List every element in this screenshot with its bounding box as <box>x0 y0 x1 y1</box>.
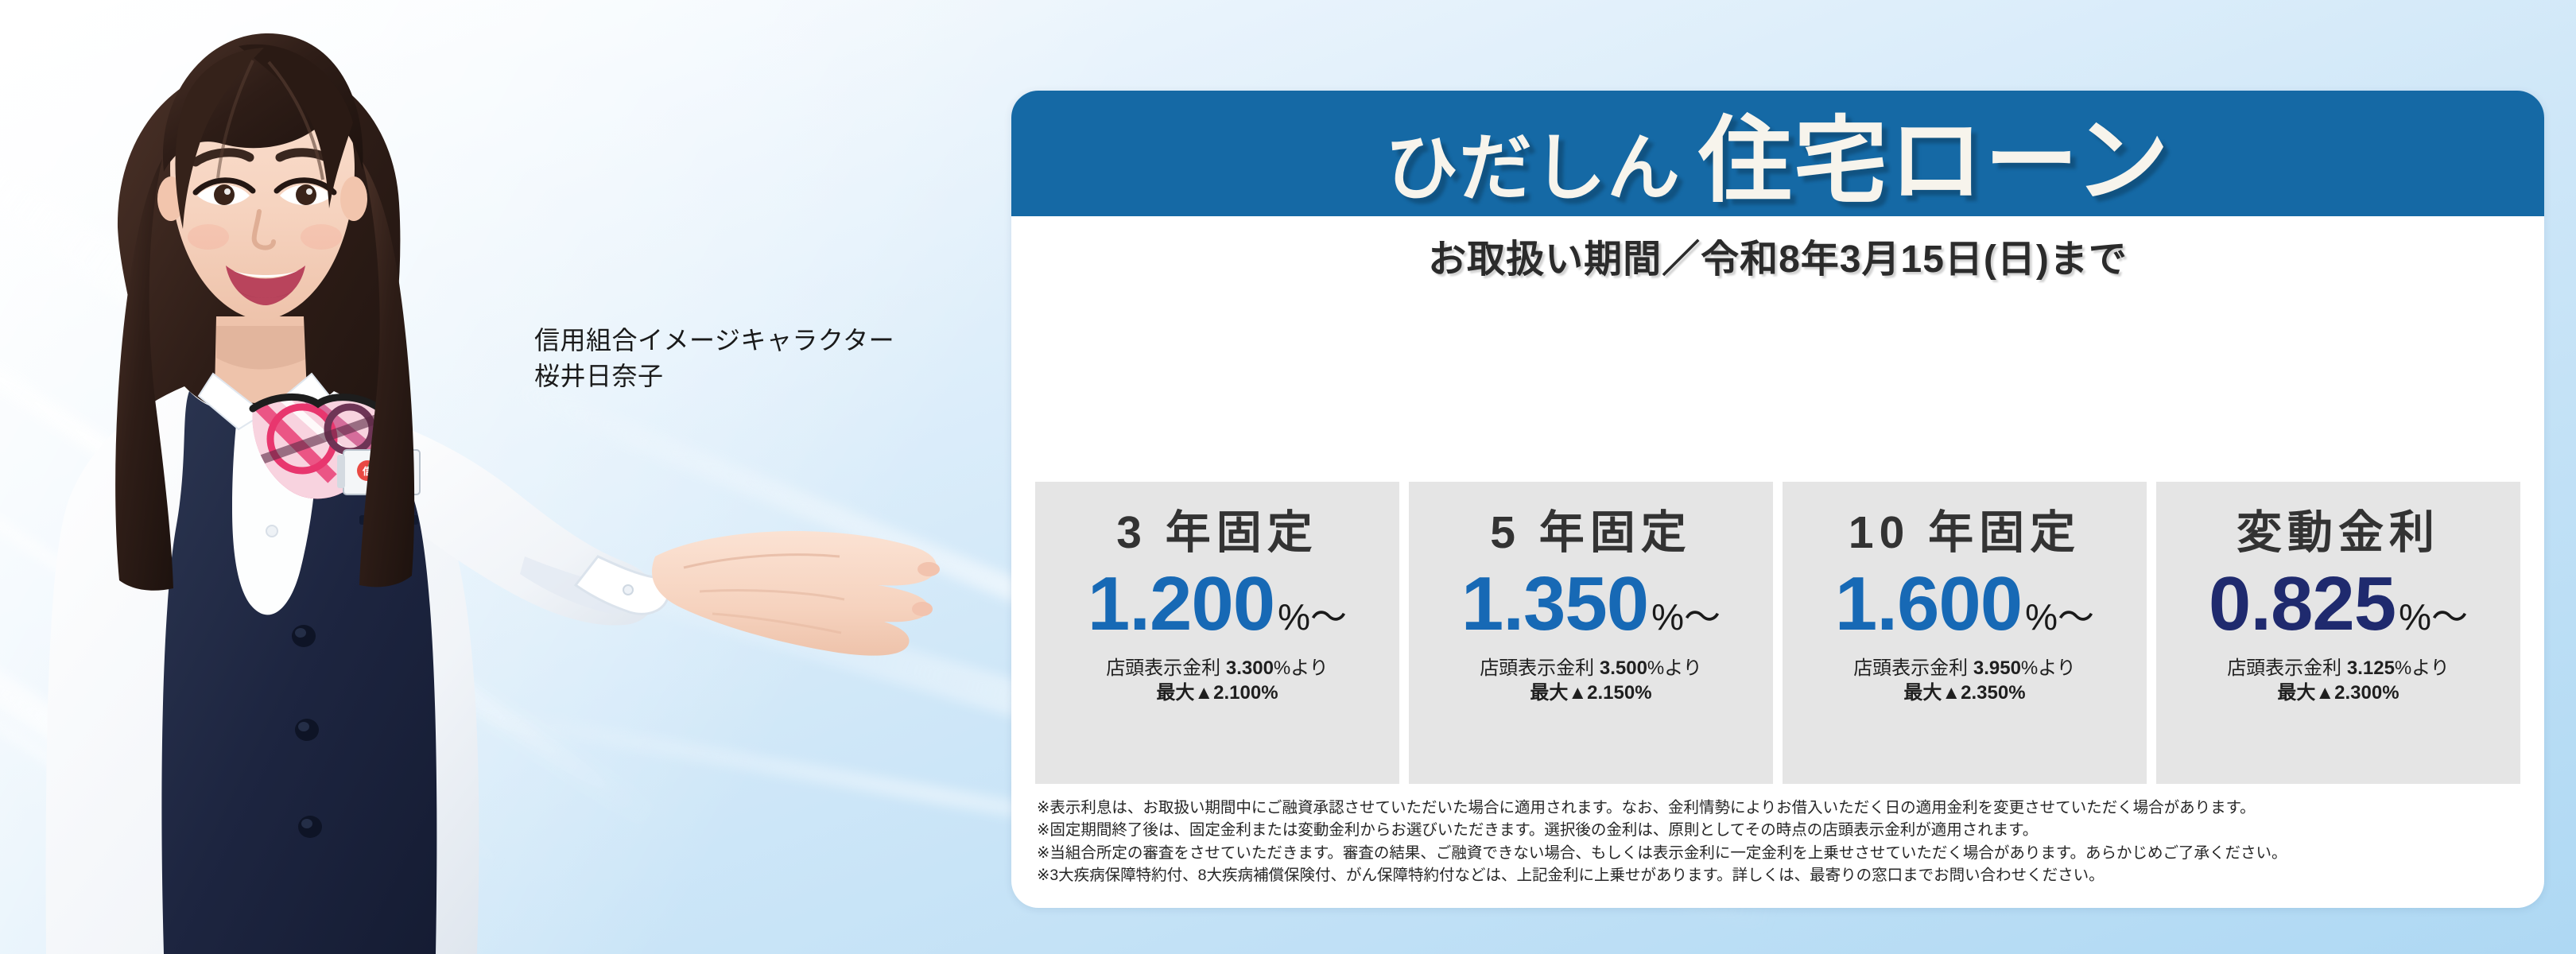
rate-note-line1: 店頭表示金利 3.125%より <box>2227 656 2450 681</box>
rate-card-3y[interactable]: 3 年固定 1.200 %〜 店頭表示金利 3.300%より 最大▲2.100% <box>1035 482 1399 784</box>
rate-note: 店頭表示金利 3.300%より 最大▲2.100% <box>1106 656 1329 706</box>
product-name: 住宅ローン <box>1698 109 2171 214</box>
panel-header: ひだしん住宅ローン <box>1011 91 2544 216</box>
disclaimer-item: ※表示利息は、お取扱い期間中にご融資承認させていただいた場合に適用されます。なお… <box>1037 797 2531 819</box>
rate-note-line2: 最大▲2.300% <box>2227 681 2450 706</box>
rate-suffix: %〜 <box>2396 588 2468 641</box>
note-discount: 最大▲2.100% <box>1156 682 1278 704</box>
note-value: 3.950 <box>1973 657 2021 679</box>
note-value: 3.125 <box>2347 657 2395 679</box>
character-photo: 信用組合 しんくみ <box>0 0 1002 954</box>
name-badge: 信用組合 しんくみ <box>337 450 420 494</box>
rate-card-variable[interactable]: 変動金利 0.825 %〜 店頭表示金利 3.125%より 最大▲2.300% <box>2156 482 2520 784</box>
rate-number: 0.825 <box>2209 564 2396 645</box>
note-discount: 最大▲2.350% <box>1903 682 2025 704</box>
light-streak <box>0 145 661 828</box>
caption-line-name: 桜井日奈子 <box>534 359 980 394</box>
rate-term-label: 変動金利 <box>2237 496 2440 561</box>
svg-text:しんくみ: しんくみ <box>367 481 396 489</box>
rate-note-line1: 店頭表示金利 3.950%より <box>1853 656 2076 681</box>
light-streak <box>0 263 511 873</box>
page-title: ひだしん住宅ローン <box>1385 91 2171 220</box>
svg-text:信用組合: 信用組合 <box>362 465 402 477</box>
rate-suffix: %〜 <box>1648 588 1721 641</box>
disclaimer-list: ※表示利息は、お取扱い期間中にご融資承認させていただいた場合に適用されます。なお… <box>1037 797 2531 886</box>
rate-suffix: %〜 <box>2022 588 2094 641</box>
disclaimer-item: ※固定期間終了後は、固定金利または変動金利からお選びいただきます。選択後の金利は… <box>1037 819 2531 841</box>
light-streak <box>0 376 685 954</box>
character-caption: 信用組合イメージキャラクター 桜井日奈子 <box>534 323 980 395</box>
rate-value-row: 0.825 %〜 <box>2209 564 2468 645</box>
rate-note: 店頭表示金利 3.950%より 最大▲2.350% <box>1853 656 2076 706</box>
rate-note: 店頭表示金利 3.125%より 最大▲2.300% <box>2227 656 2450 706</box>
note-label: 店頭表示金利 <box>1853 657 1968 679</box>
rate-value-row: 1.600 %〜 <box>1835 564 2094 645</box>
disclaimer-item: ※3大疾病保障特約付、8大疾病補償保険付、がん保障特約付などは、上記金利に上乗せ… <box>1037 864 2531 886</box>
rate-note-line1: 店頭表示金利 3.500%より <box>1480 656 1702 681</box>
light-streak <box>0 558 589 954</box>
note-value: 3.500 <box>1600 657 1647 679</box>
rate-note-line2: 最大▲2.350% <box>1853 681 2076 706</box>
home-loan-banner: 信用組合 しんくみ <box>0 0 2576 954</box>
note-label: 店頭表示金利 <box>1480 657 1594 679</box>
note-label: 店頭表示金利 <box>1106 657 1220 679</box>
rate-value-row: 1.200 %〜 <box>1088 564 1347 645</box>
rate-suffix: %〜 <box>1274 588 1347 641</box>
note-tail: %より <box>2021 657 2076 679</box>
note-tail: %より <box>1647 657 1702 679</box>
caption-line-role: 信用組合イメージキャラクター <box>534 323 980 359</box>
rate-note-line2: 最大▲2.100% <box>1106 681 1329 706</box>
rate-number: 1.350 <box>1461 564 1648 645</box>
rate-term-label: 5 年固定 <box>1490 496 1692 561</box>
rate-number: 1.200 <box>1088 564 1274 645</box>
note-discount: 最大▲2.150% <box>1530 682 1651 704</box>
note-value: 3.300 <box>1226 657 1274 679</box>
rate-card-5y[interactable]: 5 年固定 1.350 %〜 店頭表示金利 3.500%より 最大▲2.150% <box>1409 482 1773 784</box>
offer-period: お取扱い期間／令和8年3月15日(日)まで <box>1011 227 2544 283</box>
rate-number: 1.600 <box>1835 564 2022 645</box>
brand-name: ひだしん <box>1385 128 1698 209</box>
disclaimer-item: ※当組合所定の審査をさせていただきます。審査の結果、ご融資できない場合、もしくは… <box>1037 842 2531 864</box>
note-tail: %より <box>1274 657 1329 679</box>
rate-note-line2: 最大▲2.150% <box>1480 681 1702 706</box>
light-streak <box>0 52 563 605</box>
rate-note: 店頭表示金利 3.500%より 最大▲2.150% <box>1480 656 1702 706</box>
note-label: 店頭表示金利 <box>2227 657 2341 679</box>
note-tail: %より <box>2395 657 2450 679</box>
rate-card-10y[interactable]: 10 年固定 1.600 %〜 店頭表示金利 3.950%より 最大▲2.350… <box>1783 482 2147 784</box>
rate-value-row: 1.350 %〜 <box>1461 564 1721 645</box>
rate-term-label: 10 年固定 <box>1849 496 2081 561</box>
rate-term-label: 3 年固定 <box>1116 496 1318 561</box>
rate-card-list: 3 年固定 1.200 %〜 店頭表示金利 3.300%より 最大▲2.100% <box>1035 482 2520 784</box>
rate-note-line1: 店頭表示金利 3.300%より <box>1106 656 1329 681</box>
offer-panel: ひだしん住宅ローン お取扱い期間／令和8年3月15日(日)まで 3 年固定 1.… <box>1011 91 2544 908</box>
note-discount: 最大▲2.300% <box>2277 682 2399 704</box>
